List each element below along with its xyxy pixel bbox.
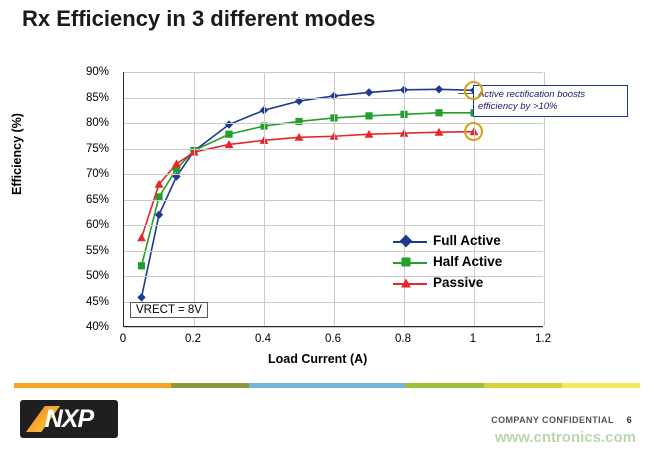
data-point-marker (435, 85, 443, 93)
footer-rule-segment (327, 383, 405, 388)
data-point-marker (365, 112, 372, 119)
chart-legend: Full ActiveHalf ActivePassive (393, 230, 538, 293)
legend-label: Full Active (433, 233, 501, 248)
y-tick-label: 50% (67, 270, 109, 282)
x-tick-label: 0.8 (388, 333, 418, 345)
y-tick-label: 70% (67, 168, 109, 180)
confidential-label: COMPANY CONFIDENTIAL (491, 415, 614, 425)
grid-line-vertical (194, 72, 195, 326)
footer-rule-segment (14, 383, 92, 388)
y-tick-label: 55% (67, 245, 109, 257)
x-tick-label: 0.2 (178, 333, 208, 345)
y-tick-label: 80% (67, 117, 109, 129)
data-point-marker (137, 233, 146, 241)
y-tick-label: 65% (67, 194, 109, 206)
data-point-marker (435, 109, 442, 116)
footer-rule (14, 383, 640, 388)
x-tick-label: 0.6 (318, 333, 348, 345)
annotation-callout: Active rectification boosts efficiency b… (473, 85, 628, 117)
legend-item: Full Active (393, 230, 538, 251)
watermark: www.cntronics.com (495, 429, 636, 446)
data-point-marker (172, 159, 181, 167)
footer-rule-segment (484, 383, 562, 388)
y-tick-label: 60% (67, 219, 109, 231)
chart-container: Efficiency (%) Load Current (A) Full Act… (18, 55, 638, 375)
grid-line-vertical (334, 72, 335, 326)
grid-line-horizontal (124, 327, 543, 328)
legend-marker-triangle-icon (401, 278, 411, 287)
x-tick-label: 0.4 (248, 333, 278, 345)
grid-line-vertical (264, 72, 265, 326)
data-point-marker (155, 211, 163, 219)
y-tick-label: 85% (67, 92, 109, 104)
x-tick-label: 0 (108, 333, 138, 345)
footer-text: COMPANY CONFIDENTIAL 6 (491, 415, 632, 425)
x-tick-label: 1.2 (528, 333, 558, 345)
data-point-marker (137, 293, 145, 301)
footer-rule-segment (92, 383, 170, 388)
highlight-circle (464, 122, 483, 141)
page-title: Rx Efficiency in 3 different modes (22, 6, 375, 32)
highlight-circle (464, 81, 483, 100)
footer-rule-segment (405, 383, 483, 388)
x-tick-label: 1 (458, 333, 488, 345)
data-point-marker (225, 131, 232, 138)
page-number: 6 (627, 415, 632, 425)
logo-text: NXP (20, 400, 118, 438)
y-axis-label: Efficiency (%) (10, 113, 24, 195)
y-tick-label: 90% (67, 66, 109, 78)
y-tick-label: 75% (67, 143, 109, 155)
legend-item: Half Active (393, 251, 538, 272)
y-tick-label: 45% (67, 296, 109, 308)
data-point-marker (138, 262, 145, 269)
slide: Rx Efficiency in 3 different modes Effic… (0, 0, 654, 451)
legend-label: Half Active (433, 254, 502, 269)
footer-rule-segment (562, 383, 640, 388)
legend-item: Passive (393, 272, 538, 293)
nxp-logo: NXP (20, 400, 118, 438)
legend-marker-square-icon (402, 257, 411, 266)
legend-label: Passive (433, 275, 483, 290)
x-axis-label: Load Current (A) (268, 352, 367, 366)
y-tick-label: 40% (67, 321, 109, 333)
vrect-note: VRECT = 8V (130, 302, 208, 318)
footer-rule-segment (171, 383, 249, 388)
legend-marker-diamond-icon (400, 234, 413, 247)
footer-rule-segment (249, 383, 327, 388)
data-point-marker (365, 88, 373, 96)
